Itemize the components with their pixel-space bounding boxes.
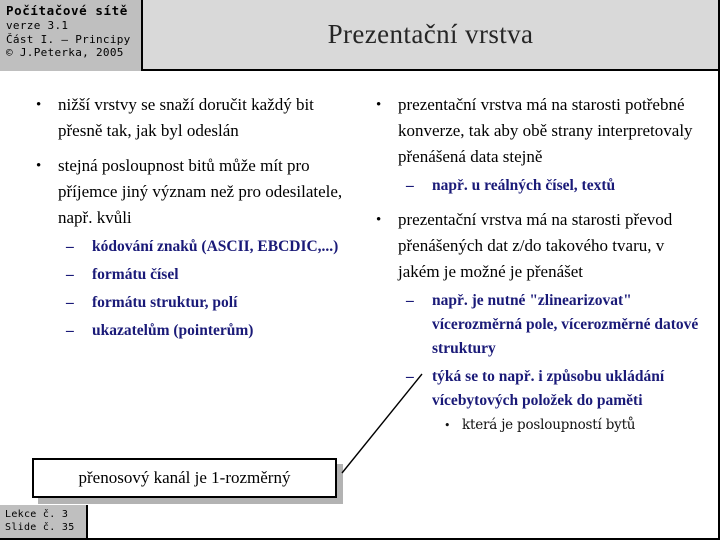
slide-canvas: Počítačové sítě verze 3.1 Část I. – Prin… bbox=[0, 0, 720, 540]
sub-bullet-text: ukazatelům (pointerům) bbox=[92, 322, 253, 339]
bullet-text: stejná posloupnost bitů může mít pro pří… bbox=[58, 156, 342, 227]
callout-text: přenosový kanál je 1-rozměrný bbox=[79, 468, 291, 488]
sub-bullet-list: kódování znaků (ASCII, EBCDIC,...) formá… bbox=[58, 235, 352, 343]
sub-bullet-text: týká se to např. i způsobu ukládání více… bbox=[432, 368, 664, 409]
left-bullet-list: nižší vrstvy se snaží doručit každý bit … bbox=[22, 92, 352, 343]
right-content-column: prezentační vrstva má na starosti potřeb… bbox=[362, 92, 707, 445]
sub-sub-bullet-item: která je posloupností bytů bbox=[432, 415, 707, 436]
sub-bullet-item: formátu struktur, polí bbox=[58, 291, 352, 315]
course-version: verze 3.1 bbox=[6, 19, 141, 33]
sub-bullet-text: formátu čísel bbox=[92, 266, 179, 283]
sub-bullet-item: formátu čísel bbox=[58, 263, 352, 287]
course-info-block: Počítačové sítě verze 3.1 Část I. – Prin… bbox=[0, 0, 143, 71]
sub-bullet-list: např. je nutné "zlinearizovat" vícerozmě… bbox=[398, 289, 707, 436]
sub-bullet-item: týká se to např. i způsobu ukládání více… bbox=[398, 365, 707, 436]
sub-sub-bullet-text: která je posloupností bytů bbox=[462, 417, 635, 433]
footer-slide: Slide č. 35 bbox=[5, 521, 86, 534]
slide-header-bar: Počítačové sítě verze 3.1 Část I. – Prin… bbox=[0, 0, 718, 71]
footer-lesson: Lekce č. 3 bbox=[5, 508, 86, 521]
bullet-item: prezentační vrstva má na starosti potřeb… bbox=[362, 92, 707, 198]
sub-bullet-item: kódování znaků (ASCII, EBCDIC,...) bbox=[58, 235, 352, 259]
right-bullet-list: prezentační vrstva má na starosti potřeb… bbox=[362, 92, 707, 436]
page-title: Prezentační vrstva bbox=[143, 0, 718, 69]
bullet-text: nižší vrstvy se snaží doručit každý bit … bbox=[58, 95, 314, 140]
sub-bullet-text: formátu struktur, polí bbox=[92, 294, 237, 311]
callout-box: přenosový kanál je 1-rozměrný bbox=[32, 458, 337, 498]
bullet-item: prezentační vrstva má na starosti převod… bbox=[362, 207, 707, 436]
sub-bullet-text: např. u reálných čísel, textů bbox=[432, 177, 615, 194]
sub-bullet-text: kódování znaků (ASCII, EBCDIC,...) bbox=[92, 238, 338, 255]
course-copyright: © J.Peterka, 2005 bbox=[6, 46, 141, 60]
bullet-text: prezentační vrstva má na starosti převod… bbox=[398, 210, 672, 281]
sub-bullet-item: např. je nutné "zlinearizovat" vícerozmě… bbox=[398, 289, 707, 361]
sub-bullet-item: např. u reálných čísel, textů bbox=[398, 174, 707, 198]
bullet-item: nižší vrstvy se snaží doručit každý bit … bbox=[22, 92, 352, 144]
sub-sub-bullet-list: která je posloupností bytů bbox=[432, 415, 707, 436]
sub-bullet-item: ukazatelům (pointerům) bbox=[58, 319, 352, 343]
bullet-item: stejná posloupnost bitů může mít pro pří… bbox=[22, 153, 352, 343]
left-content-column: nižší vrstvy se snaží doručit každý bit … bbox=[22, 92, 352, 352]
sub-bullet-text: např. je nutné "zlinearizovat" vícerozmě… bbox=[432, 292, 698, 357]
sub-bullet-list: např. u reálných čísel, textů bbox=[398, 174, 707, 198]
course-title: Počítačové sítě bbox=[6, 3, 141, 19]
footer-info-block: Lekce č. 3 Slide č. 35 bbox=[0, 505, 88, 538]
course-part: Část I. – Principy bbox=[6, 33, 141, 47]
bullet-text: prezentační vrstva má na starosti potřeb… bbox=[398, 95, 693, 166]
